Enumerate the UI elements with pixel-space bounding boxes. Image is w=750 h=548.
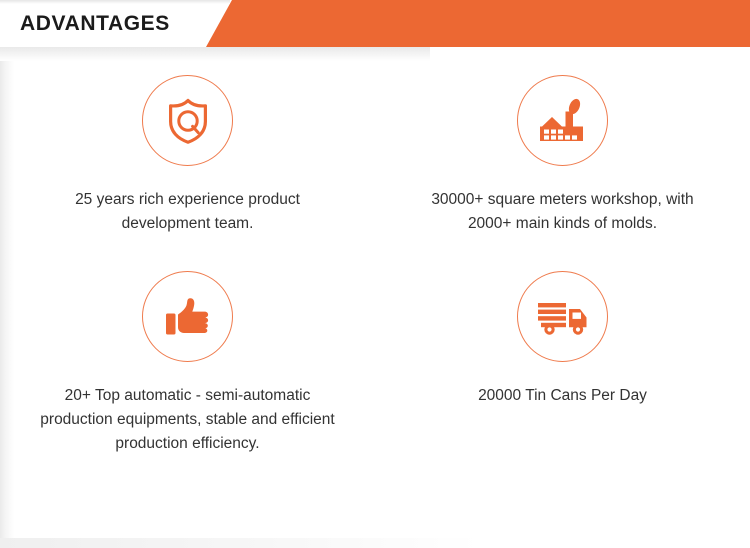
factory-icon — [517, 75, 608, 166]
advantage-card-workshop: 30000+ square meters workshop, with 2000… — [375, 75, 750, 271]
shield-quality-icon — [142, 75, 233, 166]
delivery-truck-icon — [517, 271, 608, 362]
section-header: ADVANTAGES — [0, 0, 750, 48]
page-bottom-edge-shading — [0, 538, 480, 548]
advantage-text: 25 years rich experience product develop… — [38, 188, 338, 236]
advantage-text: 20000 Tin Cans Per Day — [478, 384, 647, 408]
advantage-card-output: 20000 Tin Cans Per Day — [375, 271, 750, 456]
advantage-card-experience: 25 years rich experience product develop… — [0, 75, 375, 271]
advantage-text: 20+ Top automatic - semi-automatic produ… — [38, 384, 338, 456]
page-title: ADVANTAGES — [20, 0, 170, 47]
advantages-grid: 25 years rich experience product develop… — [0, 75, 750, 456]
header-bottom-shading — [0, 47, 430, 61]
thumbs-up-icon — [142, 271, 233, 362]
advantage-card-equipment: 20+ Top automatic - semi-automatic produ… — [0, 271, 375, 456]
advantage-text: 30000+ square meters workshop, with 2000… — [413, 188, 713, 236]
